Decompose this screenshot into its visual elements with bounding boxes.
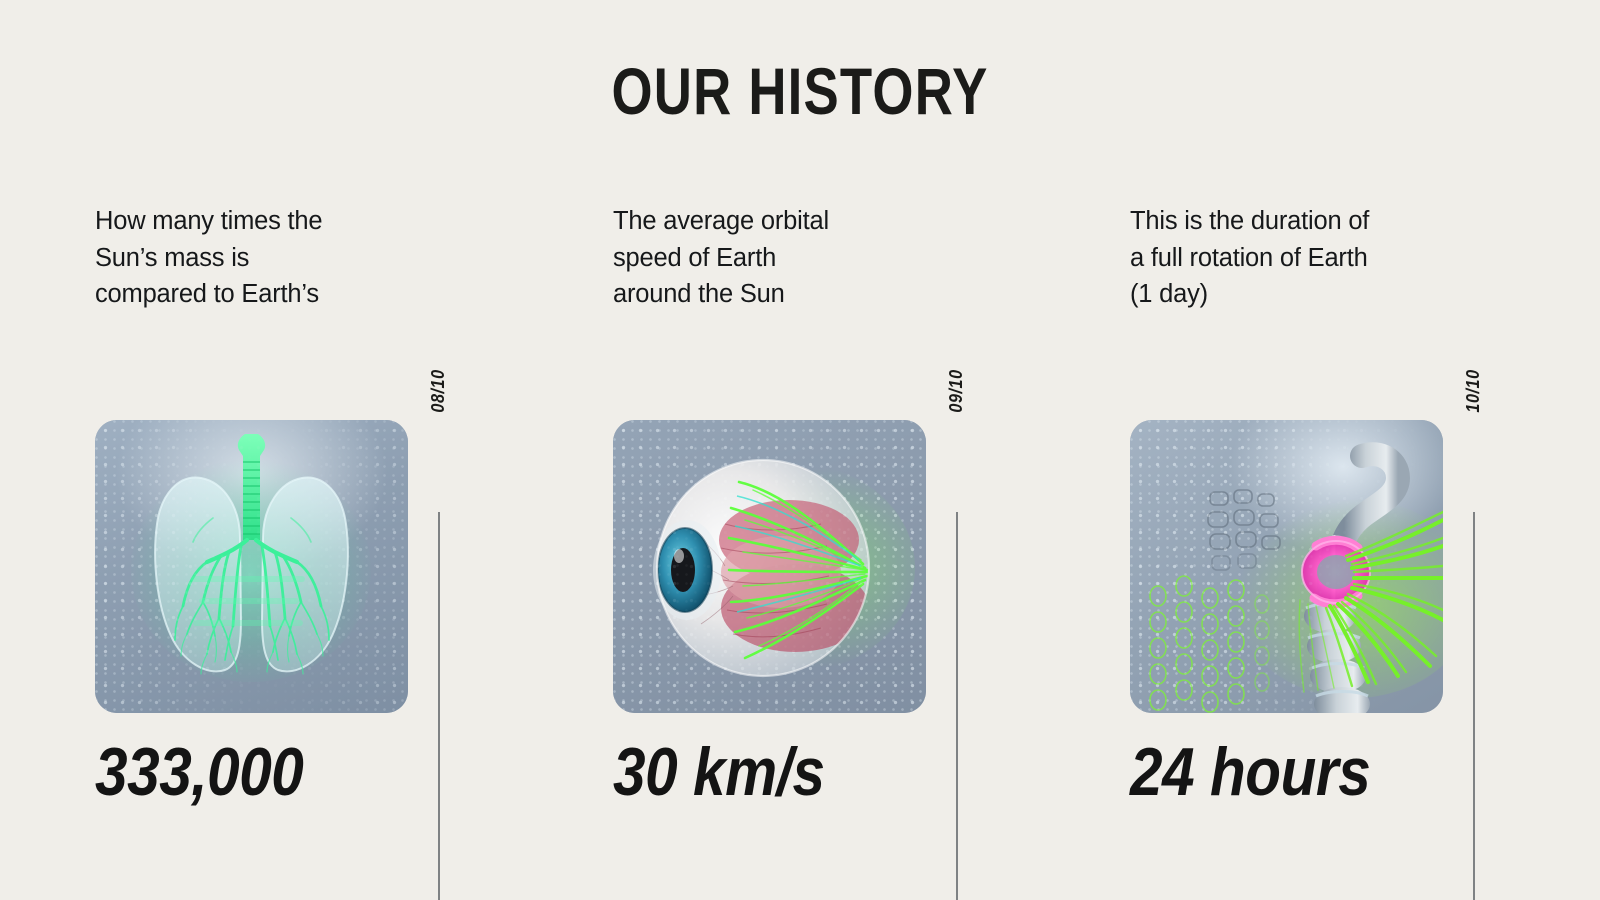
stat-value: 333,000 [95,735,303,809]
stat-image-card[interactable] [613,420,926,713]
column-divider [956,512,958,900]
stat-column-1: How many times the Sun’s mass is compare… [95,0,515,900]
stat-caption: How many times the Sun’s mass is compare… [95,203,415,313]
stat-column-2: The average orbital speed of Earth aroun… [613,0,1033,900]
slide-index-label: 08/10 [428,367,449,415]
stat-image-card[interactable] [95,420,408,713]
stat-value: 30 km/s [613,735,825,809]
column-divider [438,512,440,900]
dot-matrix-overlay [95,420,408,713]
spine-nerves-illustration [1130,420,1443,713]
dot-matrix-overlay [613,420,926,713]
eye-anatomy-illustration [613,420,926,713]
lungs-illustration [95,420,408,713]
stat-caption: This is the duration of a full rotation … [1130,203,1460,313]
slide-index-label: 10/10 [1463,367,1484,415]
stat-value: 24 hours [1130,735,1370,809]
stat-column-3: This is the duration of a full rotation … [1130,0,1550,900]
dot-matrix-overlay [1130,420,1443,713]
slide-canvas: OUR HISTORY How many times the Sun’s mas… [0,0,1600,900]
slide-index-label: 09/10 [946,367,967,415]
stat-caption: The average orbital speed of Earth aroun… [613,203,933,313]
stat-image-card[interactable] [1130,420,1443,713]
column-divider [1473,512,1475,900]
